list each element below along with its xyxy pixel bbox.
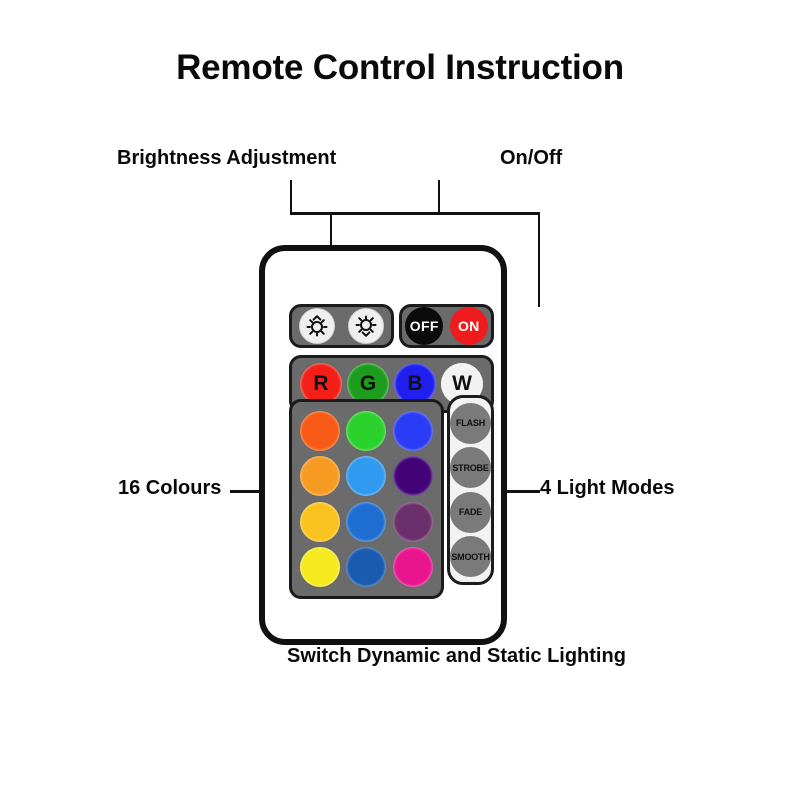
color-plum-button[interactable] [393, 502, 433, 542]
page-title: Remote Control Instruction [0, 48, 800, 88]
leader-line-onoff-lower [538, 212, 540, 307]
color-magenta-button[interactable] [393, 547, 433, 587]
callout-brightness-adjustment: Brightness Adjustment [117, 147, 336, 170]
brightness-panel [289, 304, 394, 348]
remote-instruction-diagram: Remote Control Instruction Brightness Ad… [0, 0, 800, 800]
color-azure-button[interactable] [346, 502, 386, 542]
color-orange-red-button[interactable] [300, 411, 340, 451]
color-orange-button[interactable] [300, 456, 340, 496]
flash-button[interactable]: FLASH [450, 403, 491, 444]
color-yellow-button[interactable] [300, 547, 340, 587]
on-button[interactable]: ON [450, 307, 488, 345]
color-light-blue-button[interactable] [346, 456, 386, 496]
leader-line-top-horizontal [290, 212, 540, 215]
callout-4-light-modes: 4 Light Modes [540, 477, 674, 500]
color-amber-button[interactable] [300, 502, 340, 542]
color-dark-purple-button[interactable] [393, 456, 433, 496]
off-button[interactable]: OFF [405, 307, 443, 345]
power-panel: OFF ON [399, 304, 494, 348]
color-blue-button[interactable] [393, 411, 433, 451]
sun-down-icon [353, 313, 379, 339]
leader-line-brightness-upper [290, 180, 292, 213]
sun-up-icon [304, 313, 330, 339]
color-navy-blue-button[interactable] [346, 547, 386, 587]
fade-button[interactable]: FADE [450, 492, 491, 533]
brightness-up-button[interactable] [299, 308, 335, 344]
callout-16-colours: 16 Colours [118, 477, 221, 500]
leader-line-onoff-upper [438, 180, 440, 213]
light-modes-panel: FLASH STROBE FADE SMOOTH [447, 395, 494, 585]
colour-grid-panel [289, 399, 444, 599]
color-green-button[interactable] [346, 411, 386, 451]
remote-control-body: OFF ON R G B W [259, 245, 507, 645]
strobe-button[interactable]: STROBE [450, 447, 491, 488]
brightness-down-button[interactable] [348, 308, 384, 344]
callout-on-off: On/Off [500, 147, 562, 170]
callout-switch-dynamic-static-lighting: Switch Dynamic and Static Lighting [287, 645, 626, 668]
smooth-button[interactable]: SMOOTH [450, 536, 491, 577]
